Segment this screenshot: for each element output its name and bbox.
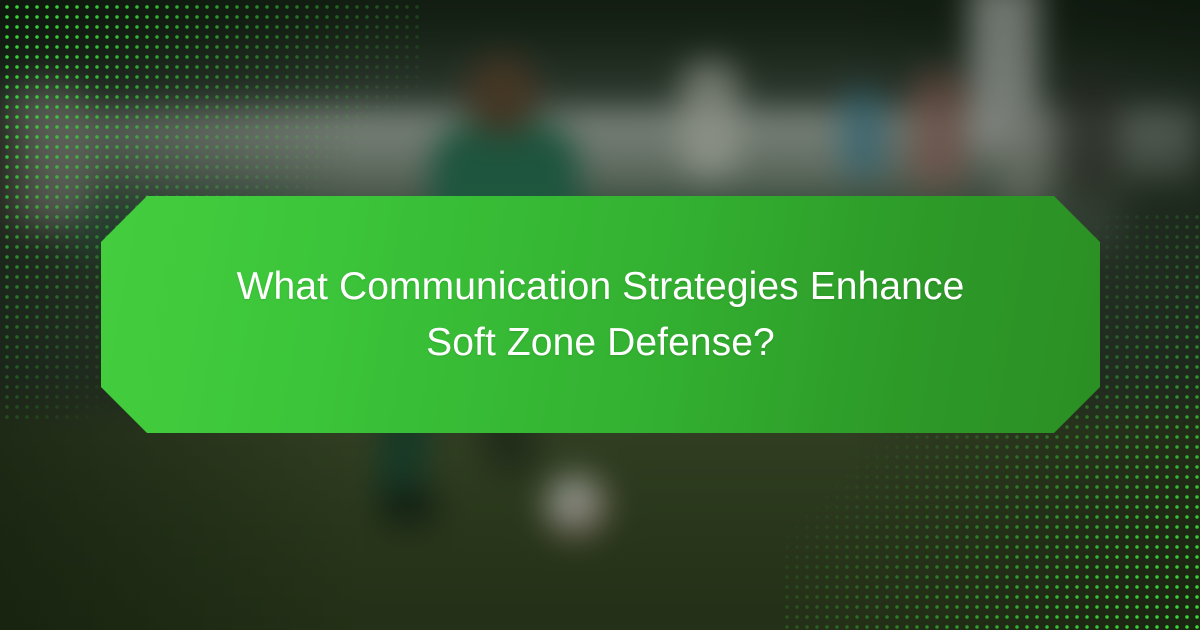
- page-title: What Communication Strategies Enhance So…: [166, 259, 1036, 371]
- title-banner: What Communication Strategies Enhance So…: [101, 196, 1100, 433]
- social-share-card: What Communication Strategies Enhance So…: [0, 0, 1200, 630]
